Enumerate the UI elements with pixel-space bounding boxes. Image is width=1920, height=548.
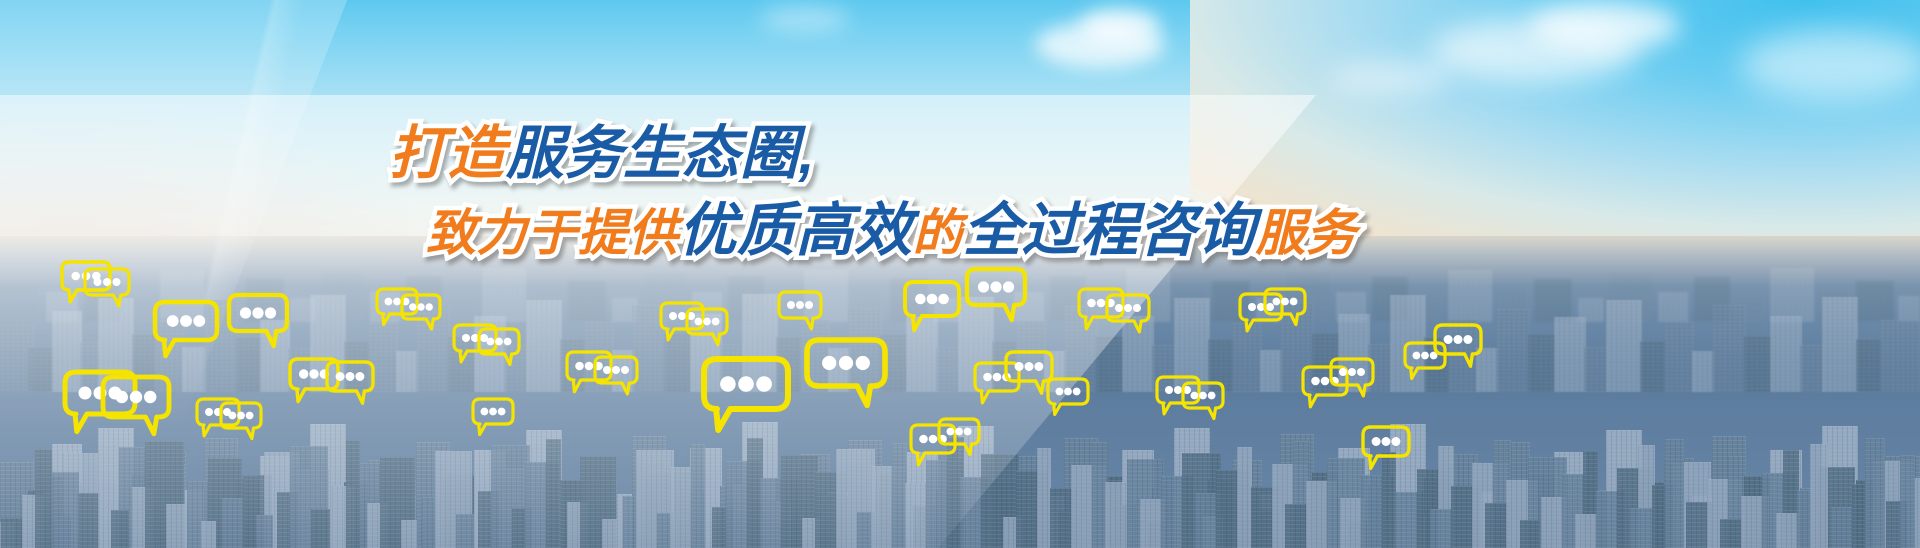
speech-bubble-icon [1356,420,1416,475]
speech-bubble-icon [1176,376,1230,426]
speech-bubble-icon [932,412,986,462]
speech-bubble-icon [960,262,1032,327]
speech-bubble-icon [96,370,176,441]
speech-bubble-icon [588,350,644,401]
speech-bubble-icon [472,322,526,372]
speech-bubble-group [0,0,1920,548]
speech-bubble-icon [78,262,136,313]
speech-bubble-icon [395,288,447,336]
speech-bubble-icon [680,302,734,352]
speech-bubble-icon [466,392,520,442]
speech-bubble-icon [1041,372,1095,422]
speech-bubble-icon [1324,352,1380,403]
speech-bubble-icon [697,352,795,437]
speech-bubble-icon [222,288,294,353]
speech-bubble-icon [1100,288,1156,339]
speech-bubble-icon [1258,282,1312,332]
speech-bubble-icon [214,396,268,446]
speech-bubble-icon [1428,318,1488,373]
speech-bubble-icon [148,295,224,363]
speech-bubble-icon [772,285,828,336]
hero-banner: 打造服务生态圈, 致力于提供优质高效的全过程咨询服务 [0,0,1920,548]
speech-bubble-icon [898,275,966,337]
speech-bubble-icon [800,333,892,412]
speech-bubble-icon [320,355,380,410]
